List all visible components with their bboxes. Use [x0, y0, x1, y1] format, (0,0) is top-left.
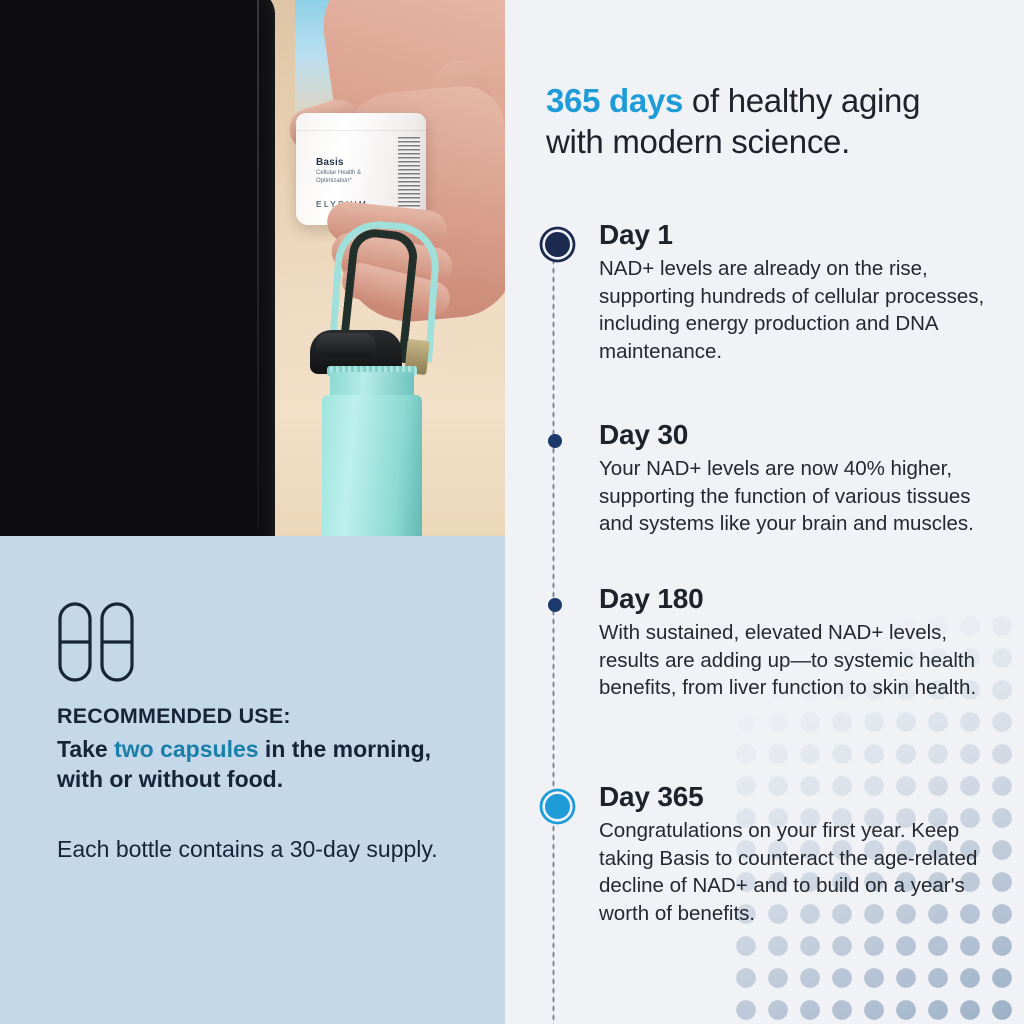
timeline-marker-cyan-ring-icon: [545, 794, 570, 819]
timeline-item-description: Congratulations on your first year. Keep…: [599, 817, 1005, 927]
jar-supplement-facts-label: [398, 137, 420, 211]
timeline-item-day-label: Day 365: [599, 781, 1005, 813]
timeline-item-day-180: Day 180 With sustained, elevated NAD+ le…: [599, 583, 1005, 702]
infographic-page: Basis Cellular Health & Optimization* EL…: [0, 0, 1024, 1024]
timeline-item-day-label: Day 1: [599, 219, 1005, 251]
timeline-marker-dot-icon: [548, 434, 562, 448]
jar-tagline: Cellular Health & Optimization*: [316, 169, 396, 185]
jar-product-name: Basis: [316, 157, 344, 168]
timeline-item-day-label: Day 180: [599, 583, 1005, 615]
timeline-item-day-365: Day 365 Congratulations on your first ye…: [599, 781, 1005, 927]
person-leg: [0, 0, 275, 536]
product-lifestyle-photo: Basis Cellular Health & Optimization* EL…: [0, 0, 505, 536]
timeline-item-day-30: Day 30 Your NAD+ levels are now 40% high…: [599, 419, 1005, 538]
instruction-highlight: two capsules: [114, 736, 258, 762]
supply-note: Each bottle contains a 30-day supply.: [57, 836, 487, 863]
recommended-use-instruction: Take two capsules in the morning, with o…: [57, 734, 477, 794]
instruction-prefix: Take: [57, 736, 114, 762]
timeline-item-description: Your NAD+ levels are now 40% higher, sup…: [599, 455, 1005, 538]
jar-lid-line: [296, 130, 426, 131]
timeline-item-description: With sustained, elevated NAD+ levels, re…: [599, 619, 1005, 702]
timeline-dotted-connector: [552, 248, 555, 1024]
water-bottle: [322, 395, 422, 536]
right-column: 365 days of healthy aging with modern sc…: [505, 0, 1024, 1024]
left-column: Basis Cellular Health & Optimization* EL…: [0, 0, 505, 1024]
two-capsules-icon: [57, 601, 147, 688]
recommended-use-label: RECOMMENDED USE:: [57, 704, 291, 729]
timeline-item-day-label: Day 30: [599, 419, 1005, 451]
timeline-marker-dot-icon: [548, 598, 562, 612]
bottle-cap: [316, 333, 376, 357]
recommended-use-panel: RECOMMENDED USE: Take two capsules in th…: [0, 536, 505, 1024]
timeline: Day 1 NAD+ levels are already on the ris…: [505, 0, 1024, 1024]
timeline-item-description: NAD+ levels are already on the rise, sup…: [599, 255, 1005, 365]
timeline-item-day-1: Day 1 NAD+ levels are already on the ris…: [599, 219, 1005, 365]
timeline-marker-ring-icon: [545, 232, 570, 257]
